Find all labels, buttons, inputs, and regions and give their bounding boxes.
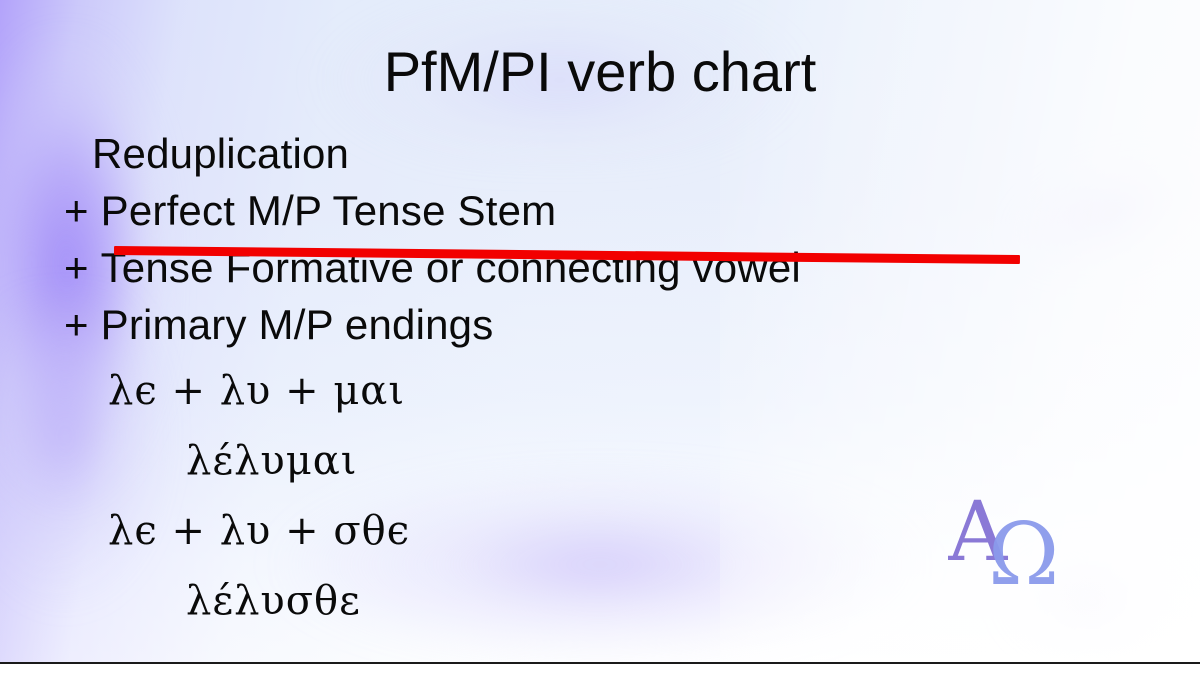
formula-line-primary-endings: + Primary M/P endings bbox=[64, 304, 493, 346]
plus-sign: + bbox=[64, 187, 89, 234]
greek-example-2: λέλυμαι bbox=[186, 441, 357, 481]
greek-example-4: λέλυσθε bbox=[186, 581, 361, 621]
plus-sign: + bbox=[64, 301, 89, 348]
greek-example-1: λϵ + λυ + μαι bbox=[108, 371, 405, 411]
bottom-white-strip bbox=[0, 664, 1200, 675]
background-wash-bottom bbox=[250, 470, 950, 675]
background-wash-left-lower bbox=[0, 300, 170, 640]
greek-example-3: λϵ + λυ + σθϵ bbox=[108, 511, 410, 551]
slide-canvas: PfM/PI verb chart Reduplication + Perfec… bbox=[0, 0, 1200, 675]
plus-sign: + bbox=[64, 244, 89, 291]
slide-title: PfM/PI verb chart bbox=[0, 44, 1200, 100]
background-wash-right bbox=[981, 57, 1200, 353]
bottom-rule bbox=[0, 662, 1200, 664]
formula-line-text: Perfect M/P Tense Stem bbox=[101, 187, 557, 234]
formula-line-text: Primary M/P endings bbox=[101, 301, 494, 348]
alpha-omega-logo: Α Ω bbox=[948, 492, 1078, 590]
omega-glyph: Ω bbox=[988, 505, 1059, 590]
formula-line-reduplication: Reduplication bbox=[92, 133, 349, 175]
formula-line-tense-stem: + Perfect M/P Tense Stem bbox=[64, 190, 556, 232]
